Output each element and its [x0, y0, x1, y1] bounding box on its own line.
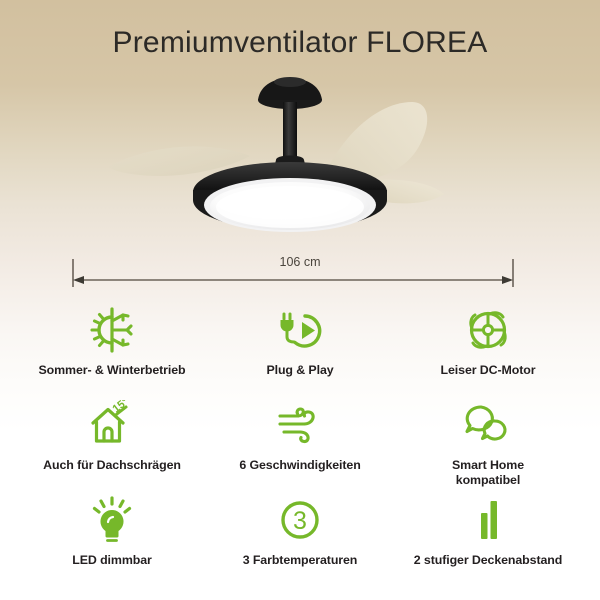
product-image	[100, 72, 500, 252]
feature-label: 6 Geschwindigkeiten	[239, 458, 360, 473]
feature-label-line-1: Smart Home	[452, 458, 524, 472]
feature-label: Auch für Dachschrägen	[43, 458, 181, 473]
plug-play-icon	[275, 304, 325, 356]
feature-item-deckenabstand: 2 stufiger Deckenabstand	[394, 490, 582, 585]
ceiling-fan-illustration	[100, 72, 500, 252]
dimension-arrow-right	[502, 276, 513, 284]
dimension-arrow-left	[73, 276, 84, 284]
feature-item-leiser-dc-motor: Leiser DC-Motor	[394, 300, 582, 395]
feature-label: 3 Farbtemperaturen	[243, 553, 358, 568]
feature-label: Plug & Play	[266, 363, 333, 378]
sun-snowflake-icon	[87, 304, 137, 356]
feature-label: Leiser DC-Motor	[441, 363, 536, 378]
feature-label: Smart Home kompatibel	[452, 458, 524, 487]
feature-label: 2 stufiger Deckenabstand	[414, 553, 562, 568]
color-temperature-count: 3	[293, 507, 307, 535]
fan-rotor-icon	[463, 304, 513, 356]
speech-bubbles-icon	[462, 399, 514, 451]
feature-grid: Sommer- & Winterbetrieb Plug & Play	[18, 300, 582, 585]
feature-item-smart-home: Smart Home kompatibel	[394, 395, 582, 490]
downrod-long	[491, 501, 498, 539]
feature-label-line-2: kompatibel	[456, 473, 520, 487]
wind-speed-icon	[274, 399, 326, 451]
feature-item-dachschraegen: 15° Auch für Dachschrägen	[18, 395, 206, 490]
dimension-indicator: 106 cm	[70, 255, 530, 295]
feature-item-farbtemperaturen: 3 3 Farbtemperaturen	[206, 490, 394, 585]
feature-item-plug-and-play: Plug & Play	[206, 300, 394, 395]
feature-item-led-dimmbar: LED dimmbar	[18, 490, 206, 585]
two-step-downrod-icon	[466, 494, 510, 546]
light-bulb-icon	[88, 494, 136, 546]
sloped-roof-house-icon: 15°	[85, 399, 139, 451]
feature-item-sommer-winterbetrieb: Sommer- & Winterbetrieb	[18, 300, 206, 395]
fan-downrod	[283, 102, 297, 164]
dimension-label: 106 cm	[70, 255, 530, 269]
feature-label: LED dimmbar	[72, 553, 151, 568]
downrod-short	[481, 513, 488, 539]
number-three-circle-icon: 3	[275, 494, 325, 546]
feature-item-geschwindigkeiten: 6 Geschwindigkeiten	[206, 395, 394, 490]
feature-label: Sommer- & Winterbetrieb	[39, 363, 186, 378]
page-title: Premiumventilator FLOREA	[0, 26, 600, 60]
